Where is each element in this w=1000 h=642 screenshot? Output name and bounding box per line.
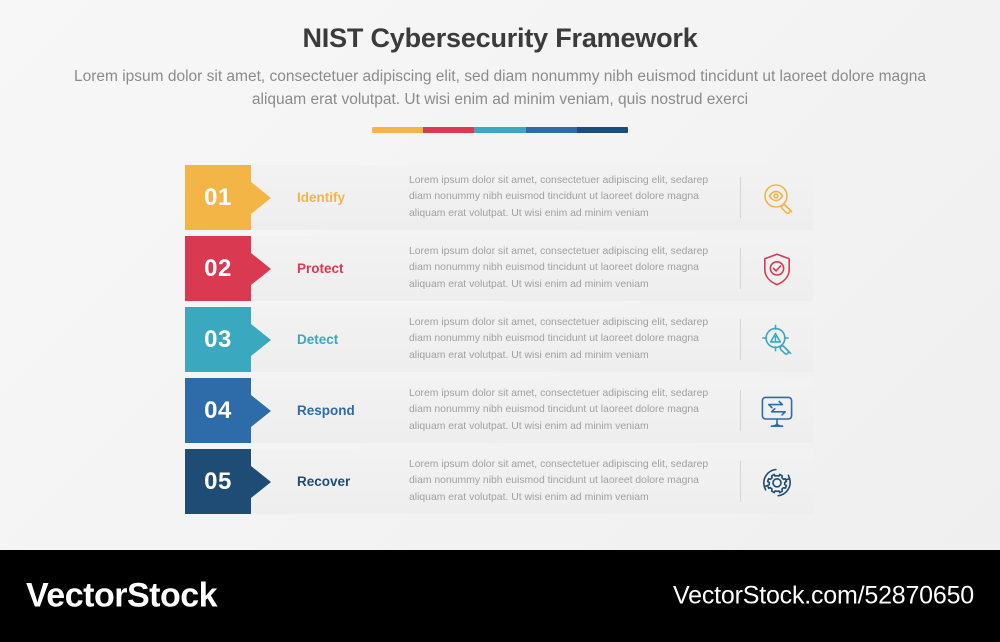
step-arrow-icon bbox=[251, 395, 271, 427]
gear-refresh-icon bbox=[741, 449, 813, 514]
vectorstock-logo: VectorStock bbox=[26, 577, 217, 616]
step-number-block: 05 bbox=[185, 449, 251, 514]
step-title: Detect bbox=[251, 307, 391, 372]
framework-row-respond[interactable]: 04RespondLorem ipsum dolor sit amet, con… bbox=[185, 378, 813, 443]
step-description: Lorem ipsum dolor sit amet, consectetuer… bbox=[391, 307, 740, 372]
infographic-canvas: NIST Cybersecurity Framework Lorem ipsum… bbox=[0, 0, 1000, 642]
framework-row-list: 01IdentifyLorem ipsum dolor sit amet, co… bbox=[185, 165, 813, 520]
shield-check-icon bbox=[741, 236, 813, 301]
step-description: Lorem ipsum dolor sit amet, consectetuer… bbox=[391, 449, 740, 514]
step-number: 01 bbox=[204, 184, 232, 212]
page-title: NIST Cybersecurity Framework bbox=[0, 22, 1000, 54]
slide-area: NIST Cybersecurity Framework Lorem ipsum… bbox=[0, 0, 1000, 550]
divider-segment-4 bbox=[526, 127, 577, 133]
framework-row-identify[interactable]: 01IdentifyLorem ipsum dolor sit amet, co… bbox=[185, 165, 813, 230]
step-number-block: 01 bbox=[185, 165, 251, 230]
divider-segment-5 bbox=[577, 127, 628, 133]
step-title: Respond bbox=[251, 378, 391, 443]
page-subtitle: Lorem ipsum dolor sit amet, consectetuer… bbox=[70, 66, 930, 111]
step-arrow-icon bbox=[251, 253, 271, 285]
divider-segment-3 bbox=[474, 127, 525, 133]
color-divider-bar bbox=[372, 127, 628, 133]
divider-segment-1 bbox=[372, 127, 423, 133]
step-arrow-icon bbox=[251, 466, 271, 498]
step-number-block: 02 bbox=[185, 236, 251, 301]
step-title: Identify bbox=[251, 165, 391, 230]
step-number: 05 bbox=[204, 468, 232, 496]
step-number: 03 bbox=[204, 326, 232, 354]
step-number-block: 03 bbox=[185, 307, 251, 372]
vectorstock-url: VectorStock.com/52870650 bbox=[673, 582, 974, 611]
framework-row-recover[interactable]: 05RecoverLorem ipsum dolor sit amet, con… bbox=[185, 449, 813, 514]
framework-row-protect[interactable]: 02ProtectLorem ipsum dolor sit amet, con… bbox=[185, 236, 813, 301]
monitor-exchange-arrows-icon bbox=[741, 378, 813, 443]
step-title: Recover bbox=[251, 449, 391, 514]
step-number: 02 bbox=[204, 255, 232, 283]
step-arrow-icon bbox=[251, 324, 271, 356]
magnifier-warning-target-icon bbox=[741, 307, 813, 372]
step-description: Lorem ipsum dolor sit amet, consectetuer… bbox=[391, 165, 740, 230]
step-number-block: 04 bbox=[185, 378, 251, 443]
magnifier-eye-icon bbox=[741, 165, 813, 230]
step-number: 04 bbox=[204, 397, 232, 425]
step-description: Lorem ipsum dolor sit amet, consectetuer… bbox=[391, 236, 740, 301]
framework-row-detect[interactable]: 03DetectLorem ipsum dolor sit amet, cons… bbox=[185, 307, 813, 372]
step-title: Protect bbox=[251, 236, 391, 301]
step-description: Lorem ipsum dolor sit amet, consectetuer… bbox=[391, 378, 740, 443]
header: NIST Cybersecurity Framework Lorem ipsum… bbox=[0, 0, 1000, 133]
divider-segment-2 bbox=[423, 127, 474, 133]
watermark-footer: VectorStock VectorStock.com/52870650 bbox=[0, 550, 1000, 642]
step-arrow-icon bbox=[251, 182, 271, 214]
